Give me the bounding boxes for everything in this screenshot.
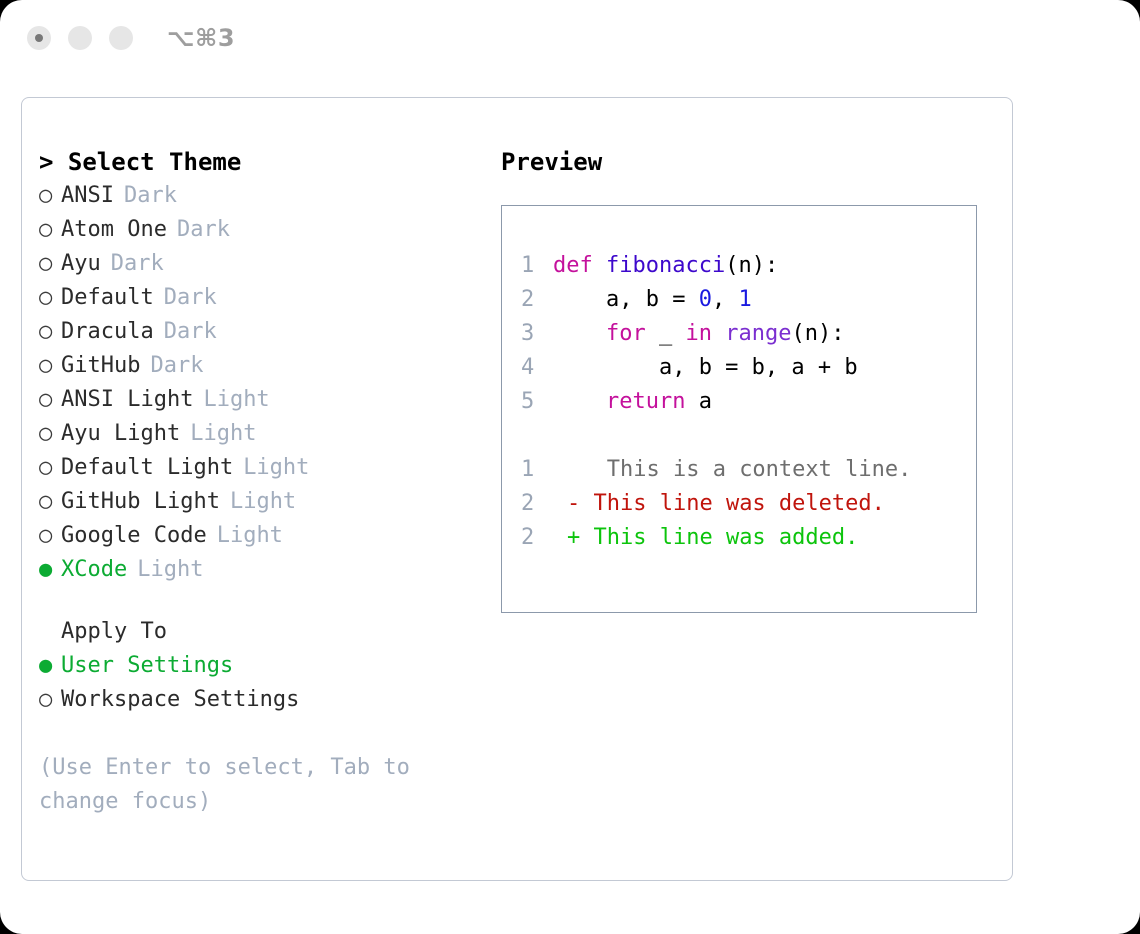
theme-option-ansi[interactable]: ○ANSIDark	[39, 179, 489, 213]
code-token-pln: (n):	[725, 253, 778, 278]
code-sample: 1def fibonacci(n):2 a, b = 0, 13 for _ i…	[521, 249, 976, 419]
theme-option-label: GitHub	[61, 349, 140, 383]
radio-unselected-icon: ○	[39, 417, 61, 451]
theme-option-tag: Light	[127, 553, 203, 587]
code-token-call: range	[725, 321, 791, 346]
theme-option-label: GitHub Light	[61, 485, 220, 519]
theme-option-default-light[interactable]: ○Default LightLight	[39, 451, 489, 485]
apply-to-option-workspace-settings[interactable]: ○Workspace Settings	[39, 683, 489, 717]
code-line: 3 for _ in range(n):	[521, 317, 976, 351]
radio-unselected-icon: ○	[39, 179, 61, 213]
theme-option-xcode[interactable]: ●XCodeLight	[39, 553, 489, 587]
radio-unselected-icon: ○	[39, 383, 61, 417]
theme-option-google-code[interactable]: ○Google CodeLight	[39, 519, 489, 553]
theme-option-ayu[interactable]: ○AyuDark	[39, 247, 489, 281]
code-line-content: for _ in range(n):	[553, 317, 844, 351]
code-line-content: return a	[553, 385, 712, 419]
radio-unselected-icon: ○	[39, 683, 61, 717]
diff-line-content: This line was deleted.	[580, 487, 885, 521]
diff-line-number: 2	[521, 487, 553, 521]
theme-option-atom-one[interactable]: ○Atom OneDark	[39, 213, 489, 247]
preview-heading: Preview	[501, 145, 1001, 179]
code-line: 4 a, b = b, a + b	[521, 351, 976, 385]
theme-option-label: XCode	[61, 553, 127, 587]
apply-to-heading: Apply To	[39, 615, 489, 649]
theme-option-ayu-light[interactable]: ○Ayu LightLight	[39, 417, 489, 451]
diff-line: 2- This line was deleted.	[521, 487, 976, 521]
theme-option-list: ○ANSIDark○Atom OneDark○AyuDark○DefaultDa…	[39, 179, 489, 587]
theme-option-dracula[interactable]: ○DraculaDark	[39, 315, 489, 349]
radio-unselected-icon: ○	[39, 213, 61, 247]
radio-unselected-icon: ○	[39, 281, 61, 315]
code-line: 2 a, b = 0, 1	[521, 283, 976, 317]
diff-line-content: This is a context line.	[580, 453, 911, 487]
theme-option-label: Ayu Light	[61, 417, 180, 451]
theme-option-tag: Light	[180, 417, 256, 451]
code-line-number: 4	[521, 351, 553, 385]
code-line-number: 3	[521, 317, 553, 351]
apply-to-option-label: Workspace Settings	[61, 683, 299, 717]
code-token-pln: ,	[712, 287, 739, 312]
theme-option-label: Default Light	[61, 451, 233, 485]
theme-option-label: ANSI Light	[61, 383, 193, 417]
apply-to-option-user-settings[interactable]: ●User Settings	[39, 649, 489, 683]
theme-option-github-light[interactable]: ○GitHub LightLight	[39, 485, 489, 519]
diff-line-content: This line was added.	[580, 521, 858, 555]
theme-option-tag: Dark	[140, 349, 203, 383]
title-bar: ⌥⌘3	[0, 0, 1140, 78]
code-line-content: a, b = b, a + b	[553, 351, 858, 385]
code-line-number: 5	[521, 385, 553, 419]
code-token-kw: in	[685, 321, 712, 346]
preview-spacer	[521, 419, 976, 453]
apply-to-option-list: ●User Settings○Workspace Settings	[39, 649, 489, 717]
theme-option-tag: Dark	[167, 213, 230, 247]
code-token-pln: a, b =	[553, 287, 699, 312]
code-token-kw: return	[606, 389, 685, 414]
theme-option-label: Ayu	[61, 247, 101, 281]
window-controls	[27, 26, 133, 50]
theme-option-label: ANSI	[61, 179, 114, 213]
diff-line: 2+ This line was added.	[521, 521, 976, 555]
radio-selected-icon: ●	[39, 553, 61, 587]
theme-picker-panel: > Select Theme ○ANSIDark○Atom OneDark○Ay…	[21, 97, 1013, 881]
radio-unselected-icon: ○	[39, 519, 61, 553]
code-line-content: a, b = 0, 1	[553, 283, 752, 317]
preview-box: 1def fibonacci(n):2 a, b = 0, 13 for _ i…	[501, 205, 977, 613]
app-window: ⌥⌘3 > Select Theme ○ANSIDark○Atom OneDar…	[0, 0, 1140, 934]
keyboard-shortcut-label: ⌥⌘3	[167, 24, 235, 52]
diff-sign: -	[553, 487, 580, 521]
keyboard-hint-text: (Use Enter to select, Tab to change focu…	[39, 751, 439, 819]
theme-option-tag: Light	[193, 383, 269, 417]
window-dot-active-icon[interactable]	[27, 26, 51, 50]
apply-to-option-label: User Settings	[61, 649, 233, 683]
code-line: 5 return a	[521, 385, 976, 419]
code-token-pln	[712, 321, 725, 346]
diff-line-number: 1	[521, 453, 553, 487]
code-token-pln: _	[646, 321, 686, 346]
code-line-number: 1	[521, 249, 553, 283]
theme-option-tag: Dark	[154, 281, 217, 315]
code-token-num: 1	[738, 287, 751, 312]
code-token-pln	[553, 389, 606, 414]
code-line: 1def fibonacci(n):	[521, 249, 976, 283]
code-token-num: 0	[699, 287, 712, 312]
radio-selected-icon: ●	[39, 649, 61, 683]
theme-option-tag: Dark	[114, 179, 177, 213]
window-dot-icon-2[interactable]	[68, 26, 92, 50]
radio-unselected-icon: ○	[39, 247, 61, 281]
theme-option-label: Dracula	[61, 315, 154, 349]
code-token-pln: (n):	[791, 321, 844, 346]
code-token-fn: fibonacci	[606, 253, 725, 278]
theme-option-tag: Dark	[101, 247, 164, 281]
code-line-content: def fibonacci(n):	[553, 249, 778, 283]
diff-sign: +	[553, 521, 580, 555]
theme-option-default[interactable]: ○DefaultDark	[39, 281, 489, 315]
window-dot-icon-3[interactable]	[109, 26, 133, 50]
theme-option-tag: Light	[220, 485, 296, 519]
theme-option-label: Google Code	[61, 519, 207, 553]
preview-column: Preview 1def fibonacci(n):2 a, b = 0, 13…	[501, 145, 1001, 613]
theme-option-tag: Light	[207, 519, 283, 553]
radio-unselected-icon: ○	[39, 451, 61, 485]
code-token-pln: a, b = b, a + b	[553, 355, 858, 380]
code-token-pln	[553, 321, 606, 346]
code-line-number: 2	[521, 283, 553, 317]
diff-sample: 1 This is a context line.2- This line wa…	[521, 453, 976, 555]
theme-option-label: Atom One	[61, 213, 167, 247]
theme-option-github[interactable]: ○GitHubDark	[39, 349, 489, 383]
theme-option-tag: Light	[233, 451, 309, 485]
diff-line-number: 2	[521, 521, 553, 555]
radio-unselected-icon: ○	[39, 315, 61, 349]
select-theme-heading: > Select Theme	[39, 145, 489, 179]
code-token-pln: a	[685, 389, 712, 414]
diff-sign	[553, 453, 580, 487]
theme-option-label: Default	[61, 281, 154, 315]
radio-unselected-icon: ○	[39, 349, 61, 383]
code-token-kw: def	[553, 253, 606, 278]
theme-selection-column: > Select Theme ○ANSIDark○Atom OneDark○Ay…	[39, 145, 489, 819]
diff-line: 1 This is a context line.	[521, 453, 976, 487]
code-token-kw: for	[606, 321, 646, 346]
theme-option-ansi-light[interactable]: ○ANSI LightLight	[39, 383, 489, 417]
theme-option-tag: Dark	[154, 315, 217, 349]
radio-unselected-icon: ○	[39, 485, 61, 519]
